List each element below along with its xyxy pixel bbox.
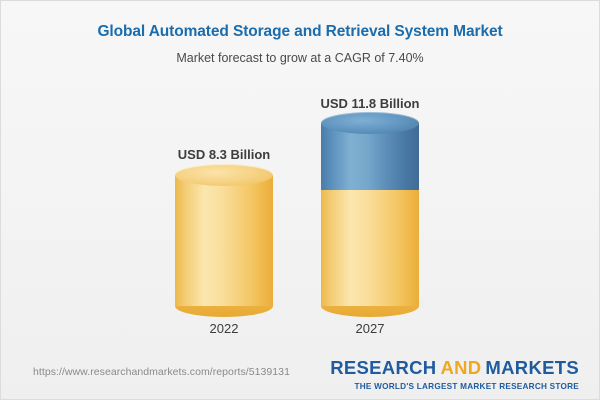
bar-category-label-2027: 2027 [270, 321, 470, 336]
cylinder-top-cap-2027 [321, 112, 419, 134]
bar-segment-base-2022 [175, 175, 273, 306]
report-url[interactable]: https://www.researchandmarkets.com/repor… [33, 366, 290, 378]
logo-word-markets: MARKETS [485, 357, 579, 378]
plot-area: USD 8.3 Billion 2022 USD 11.8 Billion [1, 1, 600, 400]
cylinder-top-cap-2022 [175, 164, 273, 186]
chart-card: Global Automated Storage and Retrieval S… [0, 0, 600, 400]
bar-cylinder-2027[interactable] [321, 123, 419, 306]
bar-value-label-2022: USD 8.3 Billion [124, 147, 324, 162]
logo-tagline: THE WORLD'S LARGEST MARKET RESEARCH STOR… [330, 382, 579, 391]
logo-word-research: RESEARCH [330, 357, 436, 378]
logo-word-and: AND [440, 357, 481, 378]
bar-value-label-2027: USD 11.8 Billion [270, 96, 470, 111]
bar-segment-base-2027 [321, 190, 419, 306]
bar-segment-growth-2027 [321, 123, 419, 190]
bar-cylinder-2022[interactable] [175, 175, 273, 306]
cylinder-body-base-2027 [321, 190, 419, 306]
chart-footer: https://www.researchandmarkets.com/repor… [1, 351, 599, 399]
logo-wordmark: RESEARCHANDMARKETS [330, 359, 579, 378]
cylinder-body-2022 [175, 175, 273, 306]
research-and-markets-logo[interactable]: RESEARCHANDMARKETS THE WORLD'S LARGEST M… [330, 359, 579, 391]
